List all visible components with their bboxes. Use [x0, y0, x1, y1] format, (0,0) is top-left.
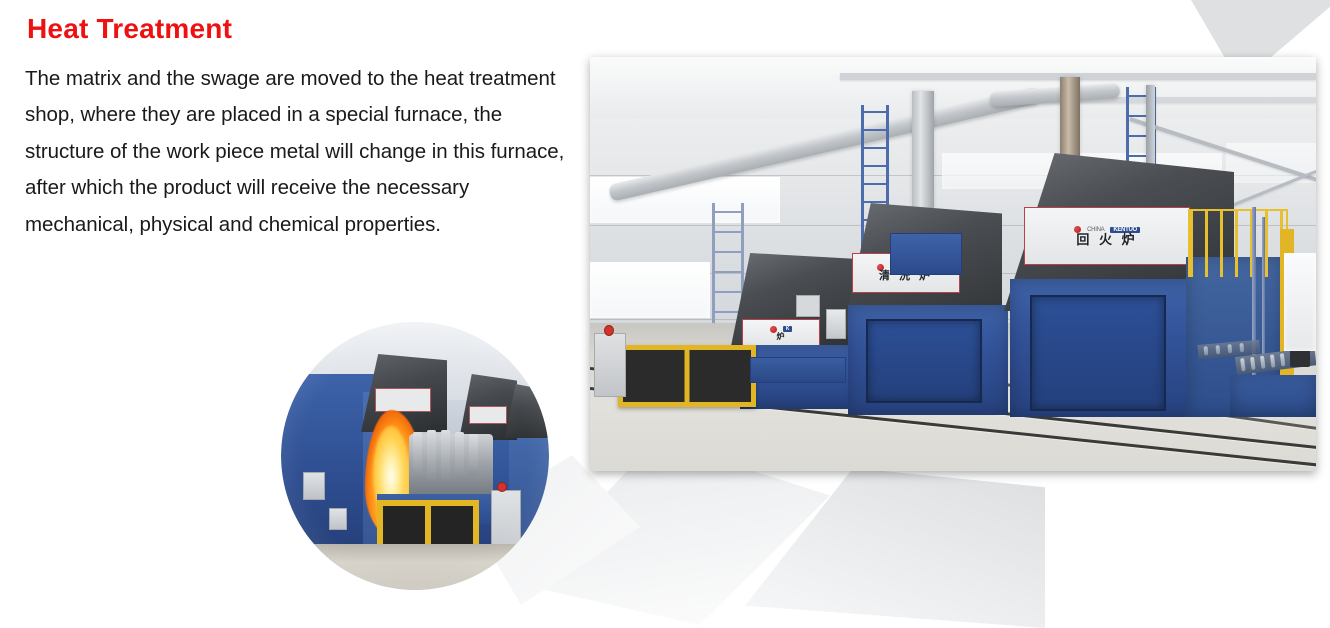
brand-dot-icon — [770, 326, 777, 333]
inset-valve-box — [303, 472, 325, 500]
furnace-door-main — [1030, 295, 1166, 411]
inset-floor — [281, 544, 549, 590]
heat-treatment-shop-photo: K 炉 CHINA KENTUO 清 洗 炉 CHINA KENTUO — [590, 57, 1316, 471]
body-paragraph: The matrix and the swage are moved to th… — [25, 61, 570, 244]
yellow-cart — [618, 345, 756, 407]
sign-chinese-text: 炉 — [777, 333, 786, 341]
workpiece — [469, 434, 478, 476]
vertical-pipe — [1262, 217, 1265, 367]
inset-indicator-light — [497, 482, 507, 492]
control-panel — [890, 233, 962, 275]
furnace-flame-photo — [281, 322, 549, 590]
sign-chinese-text: 回 火 炉 — [1076, 233, 1137, 246]
doorway — [1284, 253, 1316, 351]
inset-furnace-sign — [469, 406, 507, 424]
furnace-sign: K 炉 — [742, 319, 820, 347]
indicator-light — [604, 325, 614, 336]
furnace-door — [866, 319, 982, 403]
machine-base — [750, 357, 846, 383]
ac-unit — [796, 295, 820, 317]
polygon-right-decoration — [745, 468, 1045, 628]
workpiece — [413, 432, 422, 478]
photo-scene: K 炉 CHINA KENTUO 清 洗 炉 CHINA KENTUO — [590, 57, 1316, 471]
window-strip — [590, 262, 710, 318]
page-title: Heat Treatment — [27, 14, 570, 45]
inset-furnace-sign — [375, 388, 431, 412]
furnace-sign-main: CHINA KENTUO 回 火 炉 — [1024, 207, 1190, 265]
workpiece — [427, 430, 436, 480]
conveyor-base — [1230, 375, 1316, 417]
workpiece — [441, 430, 450, 480]
text-column: Heat Treatment The matrix and the swage … — [25, 14, 570, 243]
junction-box — [826, 309, 846, 339]
control-cabinet — [594, 333, 626, 397]
inset-scene — [281, 322, 549, 590]
safety-railing — [1188, 209, 1288, 277]
inset-valve-box — [329, 508, 347, 530]
workpiece — [455, 432, 464, 478]
